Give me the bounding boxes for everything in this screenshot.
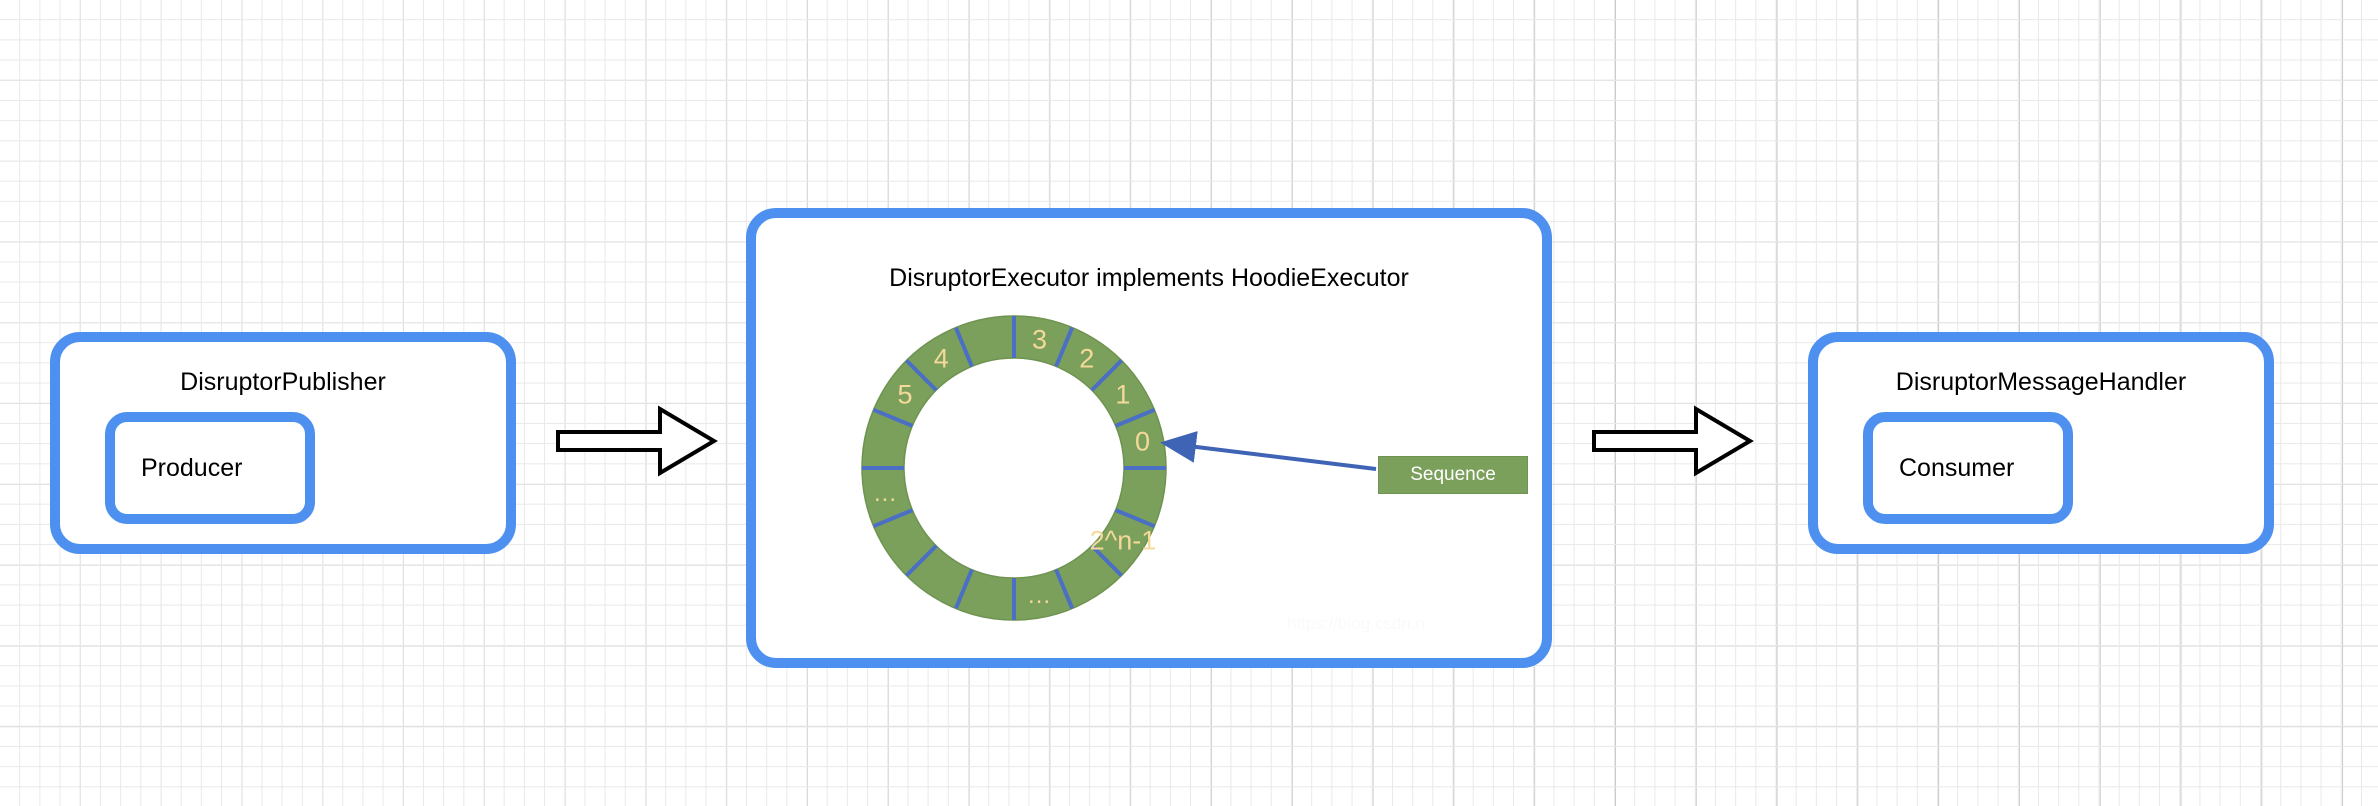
sequence-box[interactable]: Sequence <box>1378 456 1528 494</box>
disruptor-message-handler-title: DisruptorMessageHandler <box>1818 370 2264 395</box>
arrow-right-icon <box>1592 405 1754 477</box>
arrow-right-icon <box>556 405 718 477</box>
arrow-publisher-to-executor <box>556 405 718 477</box>
disruptor-publisher-title: DisruptorPublisher <box>60 370 506 395</box>
producer-box[interactable]: Producer <box>105 412 315 524</box>
consumer-label: Consumer <box>1899 454 2014 483</box>
disruptor-publisher-box[interactable]: DisruptorPublisher Producer <box>50 332 516 554</box>
sequence-pointer-arrow <box>1150 425 1380 485</box>
ring-buffer-graphic <box>858 312 1170 624</box>
consumer-box[interactable]: Consumer <box>1863 412 2073 524</box>
ring-buffer: 32102^n-1......54 <box>858 312 1170 624</box>
disruptor-executor-title: DisruptorExecutor implements HoodieExecu… <box>756 266 1542 291</box>
producer-label: Producer <box>141 454 242 483</box>
sequence-label: Sequence <box>1410 464 1496 486</box>
arrow-executor-to-handler <box>1592 405 1754 477</box>
disruptor-message-handler-box[interactable]: DisruptorMessageHandler Consumer <box>1808 332 2274 554</box>
watermark-text: https://blog.csdn.n <box>1287 614 1425 634</box>
diagram-canvas: DisruptorPublisher Producer DisruptorExe… <box>0 0 2378 806</box>
